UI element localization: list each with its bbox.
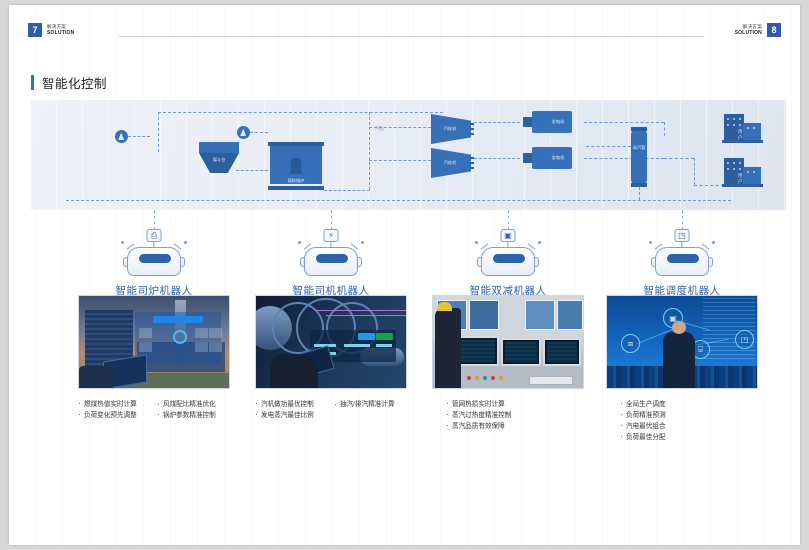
robot-gauge-icon: ▣ xyxy=(481,230,535,276)
robot-3-screen-icon: ▣ xyxy=(501,229,516,242)
turbine-upper-fin xyxy=(470,128,474,130)
generator-lower: 发电机 xyxy=(523,147,581,169)
smart-city-dispatch-photo: ▣ ⧈ ⌸ ◳ xyxy=(606,295,758,389)
robot-column-4: ◳ 智能调度机器人 xyxy=(587,210,777,298)
robot-chart-icon: ◳ xyxy=(655,230,709,276)
robot-2-leader-line xyxy=(331,210,332,230)
dash-cfb-riser xyxy=(369,112,370,190)
dash-top-bus xyxy=(158,112,443,113)
turbine-upper-fin xyxy=(470,123,474,125)
robot-1-leader-line xyxy=(154,210,155,230)
dash-gen-lower-right xyxy=(584,158,664,159)
dash-gen-upper-right xyxy=(584,122,664,123)
ph1-hand xyxy=(79,366,113,388)
power-plant-dashboard-photo xyxy=(78,295,230,389)
ph3-console-button xyxy=(475,376,479,380)
header-left-brand: 7 解决方案 SOLUTION xyxy=(28,23,74,37)
list-item: 锅炉参数精准控制 xyxy=(157,410,230,421)
robot-row: ⎙ 智能司炉机器人 ⚡ xyxy=(31,210,786,290)
turbine-upper-fin xyxy=(470,133,474,135)
ph2-hand xyxy=(270,354,318,388)
steam-header-pipe: 母汽管 xyxy=(631,127,647,187)
robot-2-antenna-tip-left xyxy=(298,241,301,244)
turbine-lower-label: 汽轮机 xyxy=(433,160,467,166)
header-right-en: SOLUTION xyxy=(735,30,762,36)
powder-boiler: 煤粉锅炉 xyxy=(268,142,324,190)
pipe-cap-top xyxy=(631,127,647,131)
header-left-text: 解决方案 SOLUTION xyxy=(47,24,74,36)
robot-4-antenna-tip-left xyxy=(649,241,652,244)
slide-header: 7 解决方案 SOLUTION 解决方案 SOLUTION 8 xyxy=(9,5,800,47)
turbine-lower: 汽轮机 xyxy=(431,148,471,178)
list-item: 管网热损实时计算 xyxy=(446,399,584,410)
list-item: 负荷变化预先调整 xyxy=(78,410,151,421)
header-right-brand: 解决方案 SOLUTION 8 xyxy=(735,23,781,37)
list-item: 蒸汽品质有效保障 xyxy=(446,421,584,432)
card-3-bullets: 管网热损实时计算 蒸汽过热度精准控制 蒸汽品质有效保障 xyxy=(446,399,584,432)
card-3-bullets-wrap: 管网热损实时计算 蒸汽过热度精准控制 蒸汽品质有效保障 xyxy=(432,399,584,432)
powder-boiler-label: 煤粉锅炉 xyxy=(268,178,324,184)
control-room-photo xyxy=(432,295,584,389)
robot-2-screen-icon: ⚡ xyxy=(324,229,339,242)
robot-2-head xyxy=(304,247,358,276)
dash-gen-upper-out xyxy=(474,122,520,123)
slide-canvas: 7 解决方案 SOLUTION 解决方案 SOLUTION 8 智能化控制 xyxy=(9,5,800,545)
ph3-monitor xyxy=(501,338,541,366)
robot-column-3: ▣ 智能双减机器人 xyxy=(413,210,603,298)
ph3-monitor xyxy=(543,338,581,366)
dash-pipe-out xyxy=(664,158,694,159)
robot-1-screen-icon: ⎙ xyxy=(147,229,162,242)
ph3-keyboard xyxy=(529,376,573,385)
coal-hopper-top xyxy=(199,142,239,153)
dash-cfb-sensor xyxy=(128,136,150,137)
list-item: 全局生产调度 xyxy=(620,399,758,410)
ph3-console-button xyxy=(491,376,495,380)
powder-boiler-base xyxy=(268,186,324,190)
list-item: 风煤配比精准优化 xyxy=(157,399,230,410)
pipe-cap-bottom xyxy=(631,183,647,187)
ph2-light-streak xyxy=(316,310,406,311)
generator-lower-label: 发电机 xyxy=(535,155,581,161)
list-item: 汽电最优组合 xyxy=(620,421,758,432)
ph1-hud-overlay xyxy=(135,312,221,364)
dash-pipe-left-in xyxy=(586,146,631,147)
generator-upper: 发电机 xyxy=(523,111,581,133)
list-item: 蒸汽过热度精准控制 xyxy=(446,410,584,421)
turbine-lower-fin xyxy=(470,157,474,159)
ph3-wall-screen xyxy=(525,300,555,330)
dash-user-lower xyxy=(694,185,724,186)
card-1: 燃煤热值实时计算 负荷变化预先调整 风煤配比精准优化 锅炉参数精准控制 xyxy=(59,295,249,421)
ph3-console-button xyxy=(483,376,487,380)
ph4-person xyxy=(663,332,695,388)
title-accent-bar xyxy=(31,75,34,90)
dash-pipe-bottom xyxy=(639,187,640,200)
section-title: 智能化控制 xyxy=(31,73,107,92)
dash-hopper-sensor xyxy=(250,132,268,133)
ph2-light-streak xyxy=(326,315,406,316)
dash-top-left-drop xyxy=(158,112,159,152)
card-2: 汽机做功最优控制 发电蒸汽最佳比例 抽汽/排汽精准计算 xyxy=(236,295,426,421)
ph1-hud-ring xyxy=(173,330,187,344)
card-2-bullets-wrap: 汽机做功最优控制 发电蒸汽最佳比例 抽汽/排汽精准计算 xyxy=(255,399,407,421)
user-building-upper-label: 用户 xyxy=(738,129,742,141)
header-divider xyxy=(119,36,704,37)
robot-3-head xyxy=(481,247,535,276)
card-4-bullets: 全局生产调度 负荷精准预测 汽电最优组合 负荷最佳分配 xyxy=(620,399,758,443)
list-item: 负荷精准预测 xyxy=(620,410,758,421)
list-item: 燃煤热值实时计算 xyxy=(78,399,151,410)
process-flow-diagram: 循环流化床锅炉 煤斗仓 煤粉锅炉 汽轮机 xyxy=(31,100,786,210)
steam-drum-label: 汽包 xyxy=(375,126,384,132)
dash-bottom-bus xyxy=(66,200,731,201)
robot-bolt-icon: ⚡ xyxy=(304,230,358,276)
turbine-rotor-photo xyxy=(255,295,407,389)
robot-2-antenna-tip-right xyxy=(361,241,364,244)
turbine-upper-label: 汽轮机 xyxy=(433,126,467,132)
ph4-data-stream xyxy=(703,298,755,360)
turbine-lower-fin xyxy=(470,162,474,164)
header-left-number: 7 xyxy=(28,23,42,37)
robot-1-visor xyxy=(139,254,171,263)
ph3-operator xyxy=(435,308,461,389)
diagram-guides xyxy=(31,100,786,210)
card-1-bullets: 燃煤热值实时计算 负荷变化预先调整 风煤配比精准优化 锅炉参数精准控制 xyxy=(78,399,230,421)
robot-3-antenna-tip-left xyxy=(475,241,478,244)
user-building-lower-label: 用户 xyxy=(738,173,742,185)
powder-boiler-furnace-door xyxy=(291,158,302,174)
ph3-console-button xyxy=(467,376,471,380)
turbine-upper: 汽轮机 xyxy=(431,114,471,144)
robot-1-antenna-tip-right xyxy=(184,241,187,244)
steam-header-pipe-label: 母汽管 xyxy=(631,145,647,150)
ph3-console-button xyxy=(499,376,503,380)
robot-4-leader-line xyxy=(682,210,683,230)
list-item: 抽汽/排汽精准计算 xyxy=(334,399,407,410)
coal-hopper: 煤斗仓 xyxy=(199,142,239,174)
header-right-text: 解决方案 SOLUTION xyxy=(735,24,762,36)
ph3-hardhat xyxy=(437,302,452,311)
dash-hopper-to-boiler xyxy=(236,170,268,171)
list-item: 汽机做功最优控制 xyxy=(255,399,328,410)
hopper-sensor-icon xyxy=(237,126,250,139)
robot-3-visor xyxy=(493,254,525,263)
user-building-lower-annex xyxy=(743,167,761,184)
robot-monitor-icon: ⎙ xyxy=(127,230,181,276)
list-item: 发电蒸汽最佳比例 xyxy=(255,410,328,421)
card-4: ▣ ⧈ ⌸ ◳ 全局生产调度 负荷精准预测 汽电最优组合 负荷最佳分配 xyxy=(587,295,777,443)
robot-1-antenna-tip-left xyxy=(121,241,124,244)
ph3-monitor xyxy=(455,336,499,366)
robot-4-screen-icon: ◳ xyxy=(675,229,690,242)
list-item: 负荷最佳分配 xyxy=(620,432,758,443)
dash-steam-lower xyxy=(369,160,431,161)
robot-2-visor xyxy=(316,254,348,263)
card-3: 管网热损实时计算 蒸汽过热度精准控制 蒸汽品质有效保障 xyxy=(413,295,603,432)
dash-user-riser xyxy=(664,122,665,136)
robot-column-2: ⚡ 智能司机机器人 xyxy=(236,210,426,298)
header-right-number: 8 xyxy=(767,23,781,37)
coal-hopper-cone xyxy=(199,153,239,173)
turbine-lower-fin xyxy=(470,167,474,169)
page-title: 智能化控制 xyxy=(42,73,107,92)
card-1-bullets-wrap: 燃煤热值实时计算 负荷变化预先调整 风煤配比精准优化 锅炉参数精准控制 xyxy=(78,399,230,421)
dash-user-drop xyxy=(694,158,695,185)
coal-hopper-label: 煤斗仓 xyxy=(199,157,239,163)
card-2-bullets: 汽机做功最优控制 发电蒸汽最佳比例 抽汽/排汽精准计算 xyxy=(255,399,407,421)
header-left-en: SOLUTION xyxy=(47,30,74,36)
ph3-wall-screen xyxy=(557,300,583,330)
robot-column-1: ⎙ 智能司炉机器人 xyxy=(59,210,249,298)
dash-boiler-to-bus xyxy=(324,190,370,191)
user-building-upper-base xyxy=(722,140,763,143)
card-4-bullets-wrap: 全局生产调度 负荷精准预测 汽电最优组合 负荷最佳分配 xyxy=(606,399,758,443)
ph4-hologram-node-camera-icon: ⧈ xyxy=(621,334,640,353)
robot-3-leader-line xyxy=(508,210,509,230)
robot-4-head xyxy=(655,247,709,276)
ph4-hologram-node-chart-icon: ◳ xyxy=(735,330,754,349)
robot-4-antenna-tip-right xyxy=(712,241,715,244)
generator-upper-label: 发电机 xyxy=(535,119,581,125)
dash-gen-lower-out xyxy=(474,158,520,159)
user-building-upper-annex xyxy=(743,123,761,140)
robot-3-antenna-tip-right xyxy=(538,241,541,244)
cfb-sensor-icon xyxy=(115,130,128,143)
ph3-wall-screen xyxy=(469,300,499,330)
robot-1-head xyxy=(127,247,181,276)
user-building-lower-base xyxy=(722,184,763,187)
robot-4-visor xyxy=(667,254,699,263)
